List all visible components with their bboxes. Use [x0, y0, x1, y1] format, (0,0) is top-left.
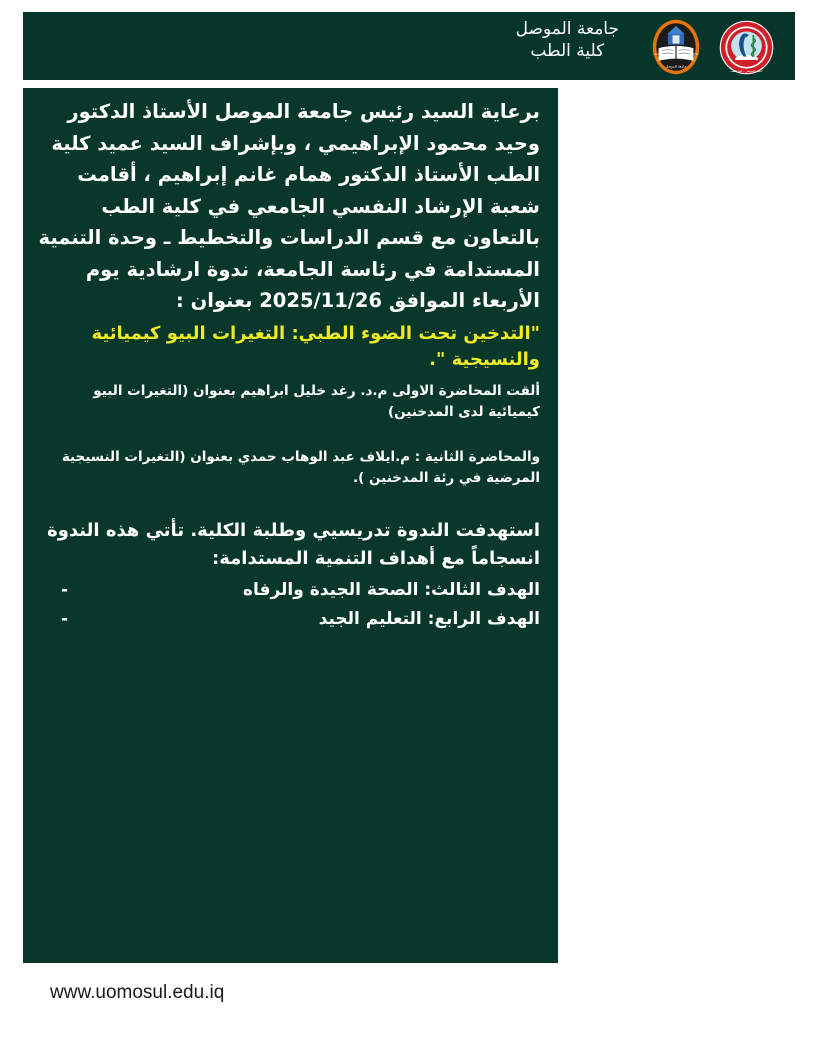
- svg-text:١٣٨٧: ١٣٨٧: [693, 52, 700, 56]
- closing-paragraph: استهدفت الندوة تدريسيي وطلبة الكلية. تأت…: [37, 517, 540, 574]
- lecture-two-text: والمحاضرة الثانية : م.ايلاف عبد الوهاب ح…: [37, 447, 540, 489]
- svg-text:جامعة الموصل: جامعة الموصل: [665, 64, 686, 68]
- svg-text:جامعة الموصل - كلية الطب: جامعة الموصل - كلية الطب: [730, 69, 763, 73]
- poster-body: Normal Lung Smoker's Lung: [23, 88, 795, 963]
- intro-paragraph: برعاية السيد رئيس جامعة الموصل الأستاذ ا…: [37, 96, 540, 317]
- goal-4-dash: -: [61, 605, 68, 634]
- goal-3-dash: -: [61, 576, 68, 605]
- sdg-goals-list: - الهدف الثالث: الصحة الجيدة والرفاه - ا…: [37, 576, 540, 634]
- university-emblem-icon: جامعة الموصل ١٩٦٧ ١٣٨٧: [647, 18, 705, 76]
- main-content: برعاية السيد رئيس جامعة الموصل الأستاذ ا…: [23, 88, 558, 963]
- footer-website-url[interactable]: www.uomosul.edu.iq: [50, 982, 224, 1004]
- svg-text:١٩٦٧: ١٩٦٧: [653, 52, 660, 56]
- header-bar: جامعة الموصل كلية الطب جامعة الموصل ١٩٦٧…: [23, 12, 795, 80]
- goal-3-text: الهدف الثالث: الصحة الجيدة والرفاه: [243, 580, 540, 600]
- lecture-one-text: ألقت المحاضرة الاولى م.د. رغد خليل ابراه…: [37, 381, 540, 423]
- poster-page: جامعة الموصل كلية الطب جامعة الموصل ١٩٦٧…: [0, 0, 816, 1056]
- header-college-name: كلية الطب: [516, 40, 619, 62]
- college-of-medicine-emblem-icon: جامعة الموصل - كلية الطب: [718, 19, 775, 76]
- main-green-panel: برعاية السيد رئيس جامعة الموصل الأستاذ ا…: [23, 88, 558, 963]
- goal-item-4: - الهدف الرابع: التعليم الجيد: [37, 605, 540, 634]
- header-title-block: جامعة الموصل كلية الطب: [516, 18, 619, 63]
- goal-4-text: الهدف الرابع: التعليم الجيد: [319, 609, 540, 629]
- goal-item-3: - الهدف الثالث: الصحة الجيدة والرفاه: [37, 576, 540, 605]
- header-university-name: جامعة الموصل: [516, 18, 619, 40]
- seminar-title: "التدخين تحت الضوء الطبي: التغيرات البيو…: [37, 321, 540, 373]
